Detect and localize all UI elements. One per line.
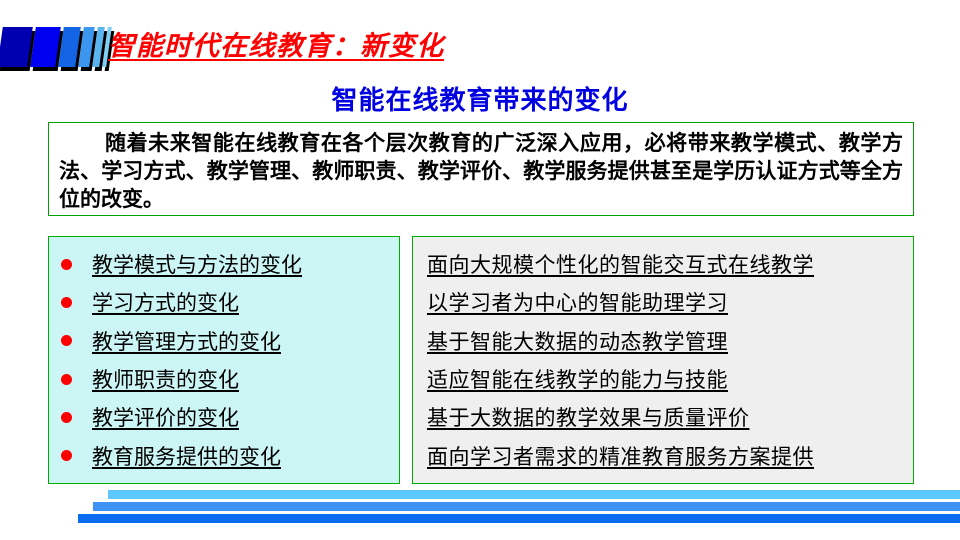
intro-paragraph-text: 随着未来智能在线教育在各个层次教育的广泛深入应用，必将带来教学模式、教学方法、学… [59, 129, 903, 213]
list-item-label: 适应智能在线教学的能力与技能 [427, 368, 728, 392]
list-item-label: 教学评价的变化 [92, 402, 239, 432]
list-item[interactable]: 教育服务提供的变化 [49, 441, 399, 471]
list-item[interactable]: 教学评价的变化 [49, 402, 399, 432]
list-item-label: 教育服务提供的变化 [92, 441, 281, 471]
header-bar-3 [58, 27, 81, 67]
list-item-label: 基于智能大数据的动态教学管理 [427, 330, 728, 354]
list-item-label: 教学管理方式的变化 [92, 326, 281, 356]
list-item-label: 基于大数据的教学效果与质量评价 [427, 406, 750, 430]
list-item-label: 以学习者为中心的智能助理学习 [427, 291, 728, 315]
changes-bullet-panel: 教学模式与方法的变化学习方式的变化教学管理方式的变化教师职责的变化教学评价的变化… [48, 236, 400, 484]
list-item[interactable]: 适应智能在线教学的能力与技能 [413, 364, 913, 394]
list-item[interactable]: 基于智能大数据的动态教学管理 [413, 326, 913, 356]
list-item[interactable]: 基于大数据的教学效果与质量评价 [413, 402, 913, 432]
header-decoration-bars [0, 27, 112, 71]
footer-bar-3 [78, 514, 960, 523]
features-panel: 面向大规模个性化的智能交互式在线教学以学习者为中心的智能助理学习基于智能大数据的… [412, 236, 914, 484]
list-item-label: 面向学习者需求的精准教育服务方案提供 [427, 445, 814, 469]
page-title: 智能时代在线教育：新变化 [108, 24, 444, 63]
list-item[interactable]: 以学习者为中心的智能助理学习 [413, 287, 913, 317]
footer-bar-2 [93, 502, 960, 511]
list-item[interactable]: 教学模式与方法的变化 [49, 249, 399, 279]
bullet-dot-icon [61, 259, 72, 270]
bullet-dot-icon [61, 412, 72, 423]
features-list: 面向大规模个性化的智能交互式在线教学以学习者为中心的智能助理学习基于智能大数据的… [413, 245, 913, 475]
footer-bar-1 [108, 490, 960, 499]
header-band: 智能时代在线教育：新变化 [0, 24, 960, 76]
intro-paragraph-box: 随着未来智能在线教育在各个层次教育的广泛深入应用，必将带来教学模式、教学方法、学… [48, 122, 914, 216]
header-bar-2 [30, 27, 61, 67]
header-bar-1 [0, 27, 33, 67]
list-item[interactable]: 面向学习者需求的精准教育服务方案提供 [413, 441, 913, 471]
list-item-label: 面向大规模个性化的智能交互式在线教学 [427, 253, 814, 277]
footer-decoration-bars [0, 490, 960, 524]
changes-bullet-list: 教学模式与方法的变化学习方式的变化教学管理方式的变化教师职责的变化教学评价的变化… [49, 245, 399, 475]
bullet-dot-icon [61, 335, 72, 346]
bullet-dot-icon [61, 297, 72, 308]
bullet-dot-icon [61, 374, 72, 385]
bullet-dot-icon [61, 450, 72, 461]
list-item-label: 教学模式与方法的变化 [92, 249, 302, 279]
list-item-label: 教师职责的变化 [92, 364, 239, 394]
list-item-label: 学习方式的变化 [92, 287, 239, 317]
list-item[interactable]: 学习方式的变化 [49, 287, 399, 317]
list-item[interactable]: 教师职责的变化 [49, 364, 399, 394]
section-heading: 智能在线教育带来的变化 [0, 80, 960, 117]
list-item[interactable]: 教学管理方式的变化 [49, 326, 399, 356]
list-item[interactable]: 面向大规模个性化的智能交互式在线教学 [413, 249, 913, 279]
